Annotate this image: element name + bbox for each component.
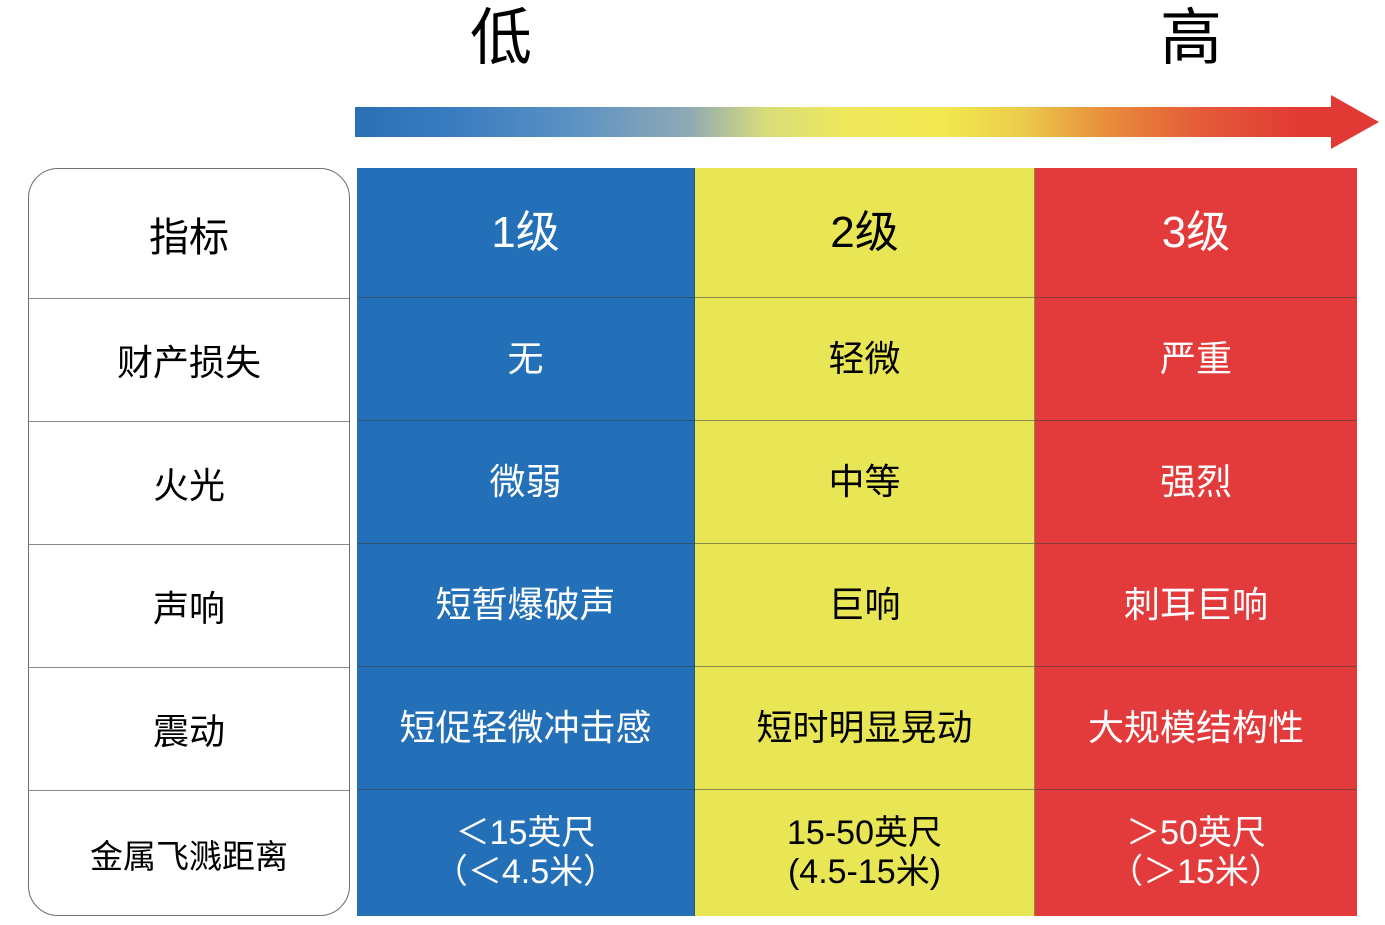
cell-property-loss-level-3: 严重	[1035, 298, 1357, 421]
cell-flame-level-1: 微弱	[357, 421, 695, 544]
cell-sound-level-3: 刺耳巨响	[1035, 544, 1357, 667]
arrow-head-icon	[1331, 95, 1379, 149]
cell-metal-spatter-level-3: ＞50英尺 （＞15米）	[1035, 790, 1357, 916]
column-header-level-2: 2级	[695, 168, 1035, 298]
severity-gradient-arrow	[355, 103, 1379, 141]
cell-line-2: （＞15米）	[1109, 853, 1283, 892]
cell-line-1: ＞50英尺	[1109, 814, 1283, 853]
row-label-sound: 声响	[29, 545, 349, 668]
scale-high-label: 高	[1160, 8, 1222, 70]
cell-vibration-level-2: 短时明显晃动	[695, 667, 1035, 790]
cell-line-1: 15-50英尺	[787, 814, 942, 853]
cell-flame-level-2: 中等	[695, 421, 1035, 544]
cell-flame-level-3: 强烈	[1035, 421, 1357, 544]
row-label-metal-spatter-distance: 金属飞溅距离	[29, 791, 349, 917]
cell-line-2: （＜4.5米）	[434, 853, 617, 892]
cell-vibration-level-3: 大规模结构性	[1035, 667, 1357, 790]
severity-matrix: 指标 财产损失 火光 声响 震动 金属飞溅距离 1级 2级 3级 无 轻微 严重…	[28, 168, 1357, 916]
row-label-flame: 火光	[29, 422, 349, 545]
column-header-level-1: 1级	[357, 168, 695, 298]
severity-grid: 1级 2级 3级 无 轻微 严重 微弱 中等 强烈 短暂爆破声 巨响 刺耳巨响 …	[357, 168, 1357, 916]
row-label-property-loss: 财产损失	[29, 299, 349, 422]
gradient-arrow-shaft	[355, 107, 1335, 137]
indicator-header-cell: 指标	[29, 169, 349, 299]
indicator-label-card: 指标 财产损失 火光 声响 震动 金属飞溅距离	[28, 168, 350, 916]
cell-line-1: ＜15英尺	[434, 814, 617, 853]
cell-line-2: (4.5-15米)	[787, 853, 942, 892]
scale-low-label: 低	[470, 8, 532, 70]
cell-vibration-level-1: 短促轻微冲击感	[357, 667, 695, 790]
column-header-level-3: 3级	[1035, 168, 1357, 298]
risk-level-matrix-page: 低 高 指标 财产损失 火光 声响 震动 金属飞溅距离 1级 2级 3级 无 轻…	[0, 0, 1385, 925]
cell-sound-level-2: 巨响	[695, 544, 1035, 667]
cell-metal-spatter-level-2: 15-50英尺 (4.5-15米)	[695, 790, 1035, 916]
cell-property-loss-level-1: 无	[357, 298, 695, 421]
cell-property-loss-level-2: 轻微	[695, 298, 1035, 421]
row-label-vibration: 震动	[29, 668, 349, 791]
cell-sound-level-1: 短暂爆破声	[357, 544, 695, 667]
cell-metal-spatter-level-1: ＜15英尺 （＜4.5米）	[357, 790, 695, 916]
